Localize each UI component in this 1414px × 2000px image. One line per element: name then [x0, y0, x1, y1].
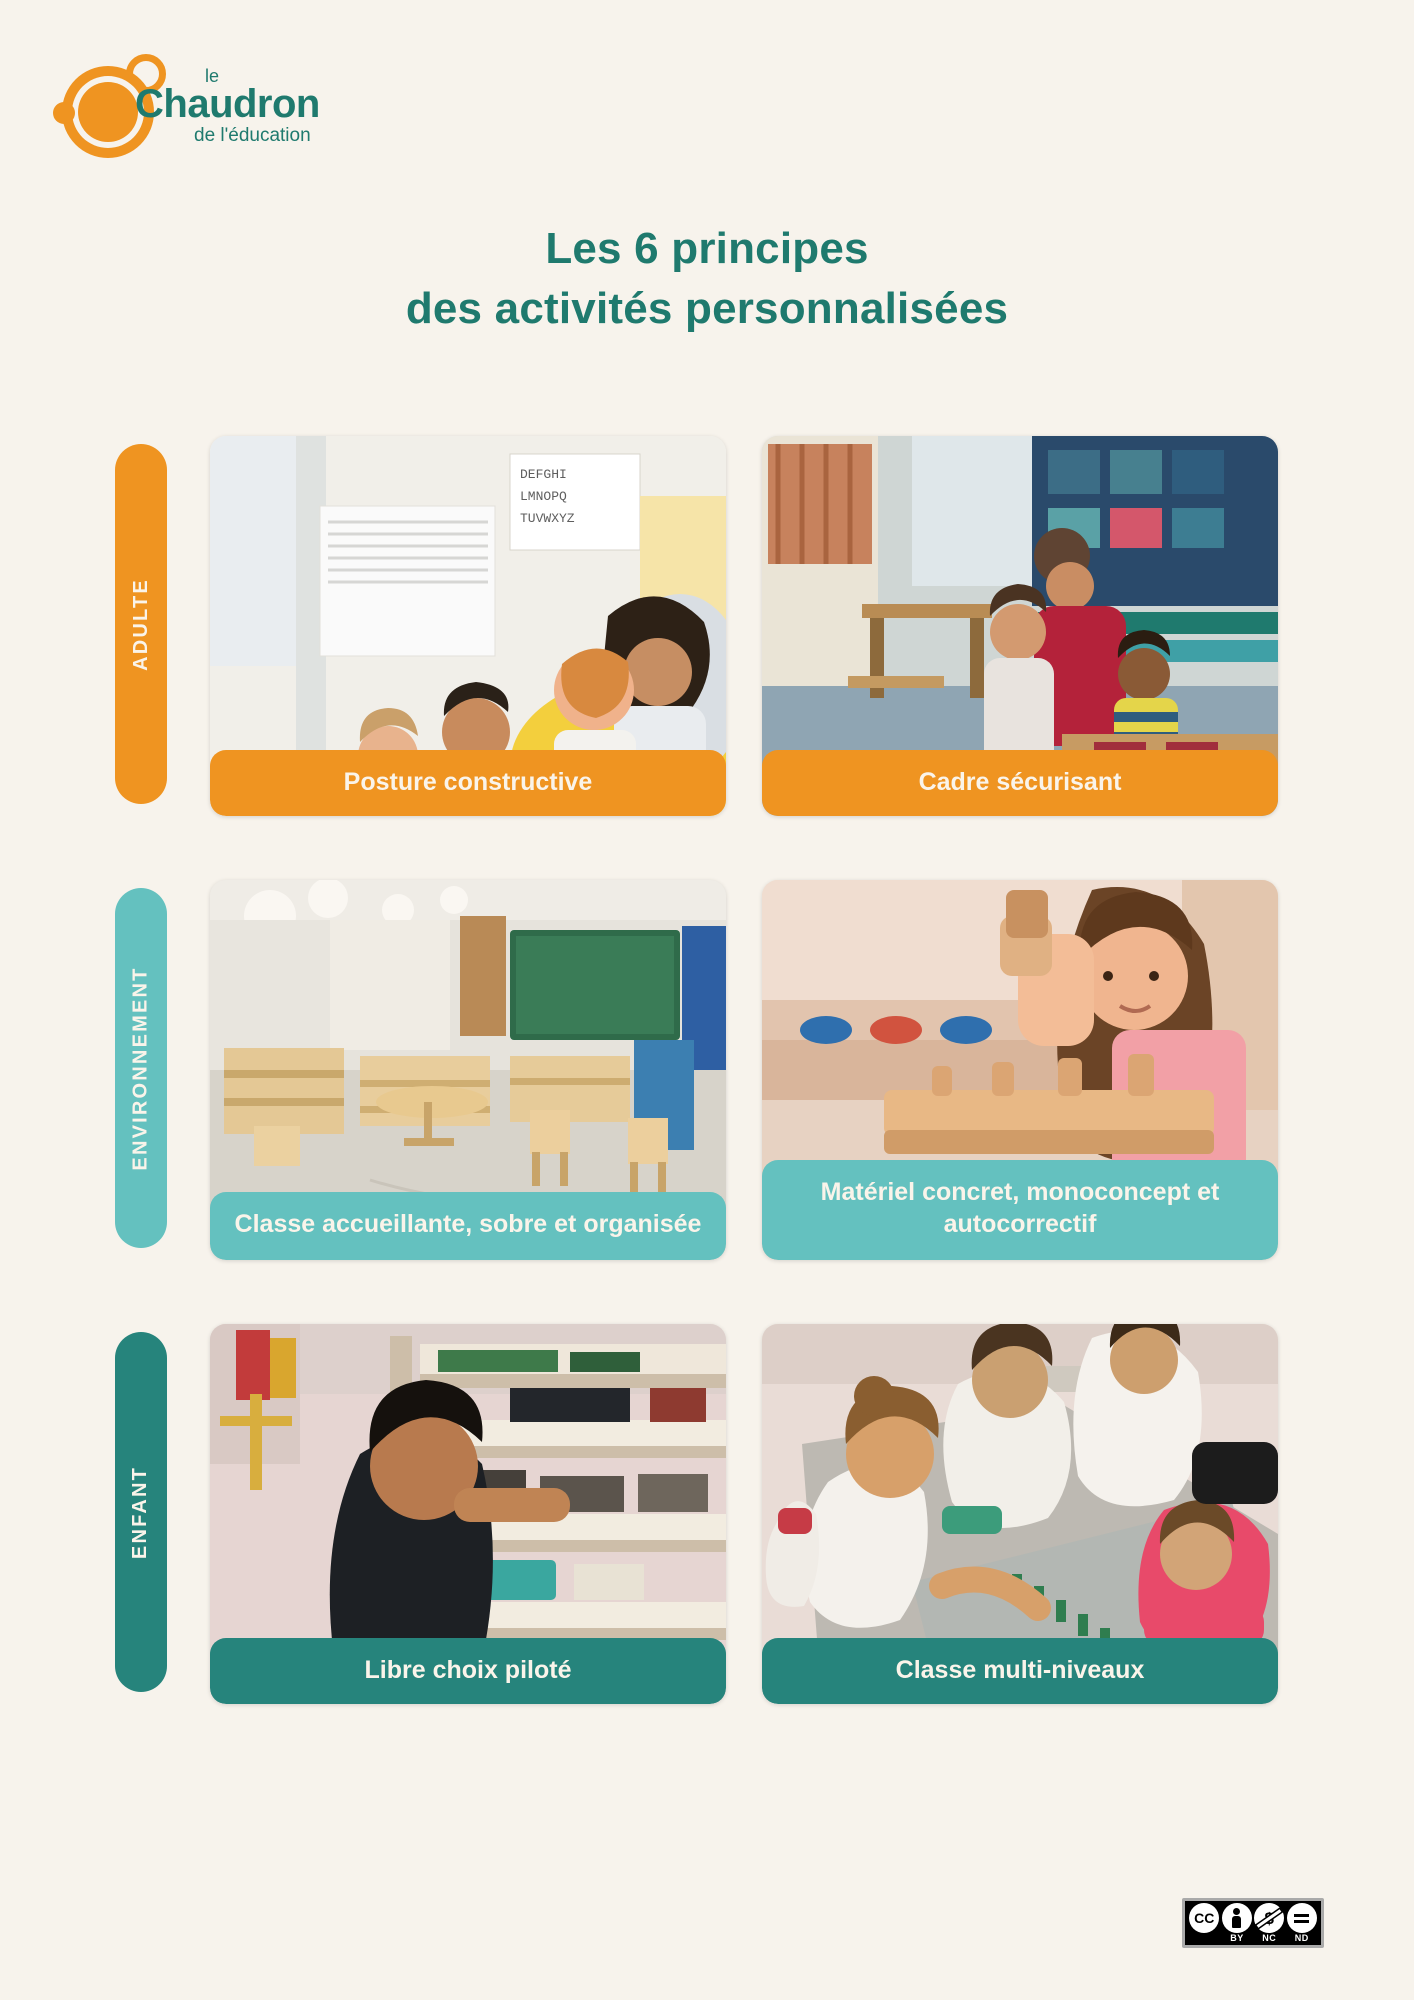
svg-text:TUVWXYZ: TUVWXYZ [520, 511, 575, 526]
category-rail-label: ENFANT [130, 1465, 153, 1558]
cc-badge-inner: CC $ BY NC ND [1185, 1901, 1321, 1945]
brand-logo: le Chaudron de l'éducation [58, 44, 318, 156]
principle-caption: Cadre sécurisant [762, 750, 1278, 816]
cauldron-nub [53, 102, 75, 124]
principle-caption: Posture constructive [210, 750, 726, 816]
cc-label-row: BY NC ND [1185, 1931, 1321, 1944]
cc-logo-icon: CC [1189, 1903, 1219, 1933]
category-rail-label: ENVIRONNEMENT [130, 966, 153, 1170]
creative-commons-by-nc-nd-icon[interactable]: CC $ BY NC ND [1182, 1898, 1324, 1948]
brand-wordmark: le Chaudron de l'éducation [130, 62, 330, 152]
brand-tagline: de l'éducation [194, 125, 311, 147]
page-title-line-1: Les 6 principes [545, 224, 868, 273]
principle-caption: Matériel concret, monoconcept et autocor… [762, 1160, 1278, 1260]
principle-card-materiel-concret[interactable]: Matériel concret, monoconcept et autocor… [762, 880, 1278, 1260]
principle-card-classe-accueillante[interactable]: Classe accueillante, sobre et organisée [210, 880, 726, 1260]
principles-row-environnement: ENVIRONNEMENT [0, 880, 1414, 1260]
category-rail-environnement: ENVIRONNEMENT [115, 888, 167, 1248]
cc-logo-text: CC [1194, 1910, 1214, 1926]
principle-card-posture-constructive[interactable]: DEFGHI LMNOPQ TUVWXYZ [210, 436, 726, 816]
principle-card-libre-choix-pilote[interactable]: Libre choix piloté [210, 1324, 726, 1704]
principles-row-enfant: ENFANT [0, 1324, 1414, 1704]
principle-card-classe-multi-niveaux[interactable]: Classe multi-niveaux [762, 1324, 1278, 1704]
cc-nc-icon: $ [1254, 1903, 1284, 1933]
page-title-line-2: des activités personnalisées [0, 279, 1414, 338]
principles-row-adulte: ADULTE DEFGHI LMNOPQ TUVWXYZ [0, 436, 1414, 816]
equals-bar-top [1294, 1914, 1309, 1917]
category-rail-label: ADULTE [130, 578, 153, 671]
svg-text:DEFGHI: DEFGHI [520, 467, 567, 482]
principle-caption: Classe accueillante, sobre et organisée [210, 1192, 726, 1260]
principle-card-cadre-securisant[interactable]: Cadre sécurisant [762, 436, 1278, 816]
principle-caption: Classe multi-niveaux [762, 1638, 1278, 1704]
cauldron-core [78, 82, 138, 142]
equals-bar-bottom [1294, 1920, 1309, 1923]
cc-term-by: BY [1230, 1933, 1244, 1943]
svg-text:LMNOPQ: LMNOPQ [520, 489, 567, 504]
cc-icon-row: CC $ [1185, 1901, 1321, 1935]
page-title: Les 6 principes des activités personnali… [0, 219, 1414, 338]
cc-by-icon [1222, 1903, 1252, 1933]
person-body-shape [1232, 1916, 1241, 1928]
principle-caption: Libre choix piloté [210, 1638, 726, 1704]
cc-term-nd: ND [1295, 1933, 1309, 1943]
person-head-shape [1233, 1908, 1240, 1915]
brand-name: Chaudron [135, 82, 320, 127]
cc-term-nc: NC [1262, 1933, 1276, 1943]
cc-nd-icon [1287, 1903, 1317, 1933]
principles-grid: ADULTE DEFGHI LMNOPQ TUVWXYZ [0, 436, 1414, 1768]
category-rail-adulte: ADULTE [115, 444, 167, 804]
category-rail-enfant: ENFANT [115, 1332, 167, 1692]
